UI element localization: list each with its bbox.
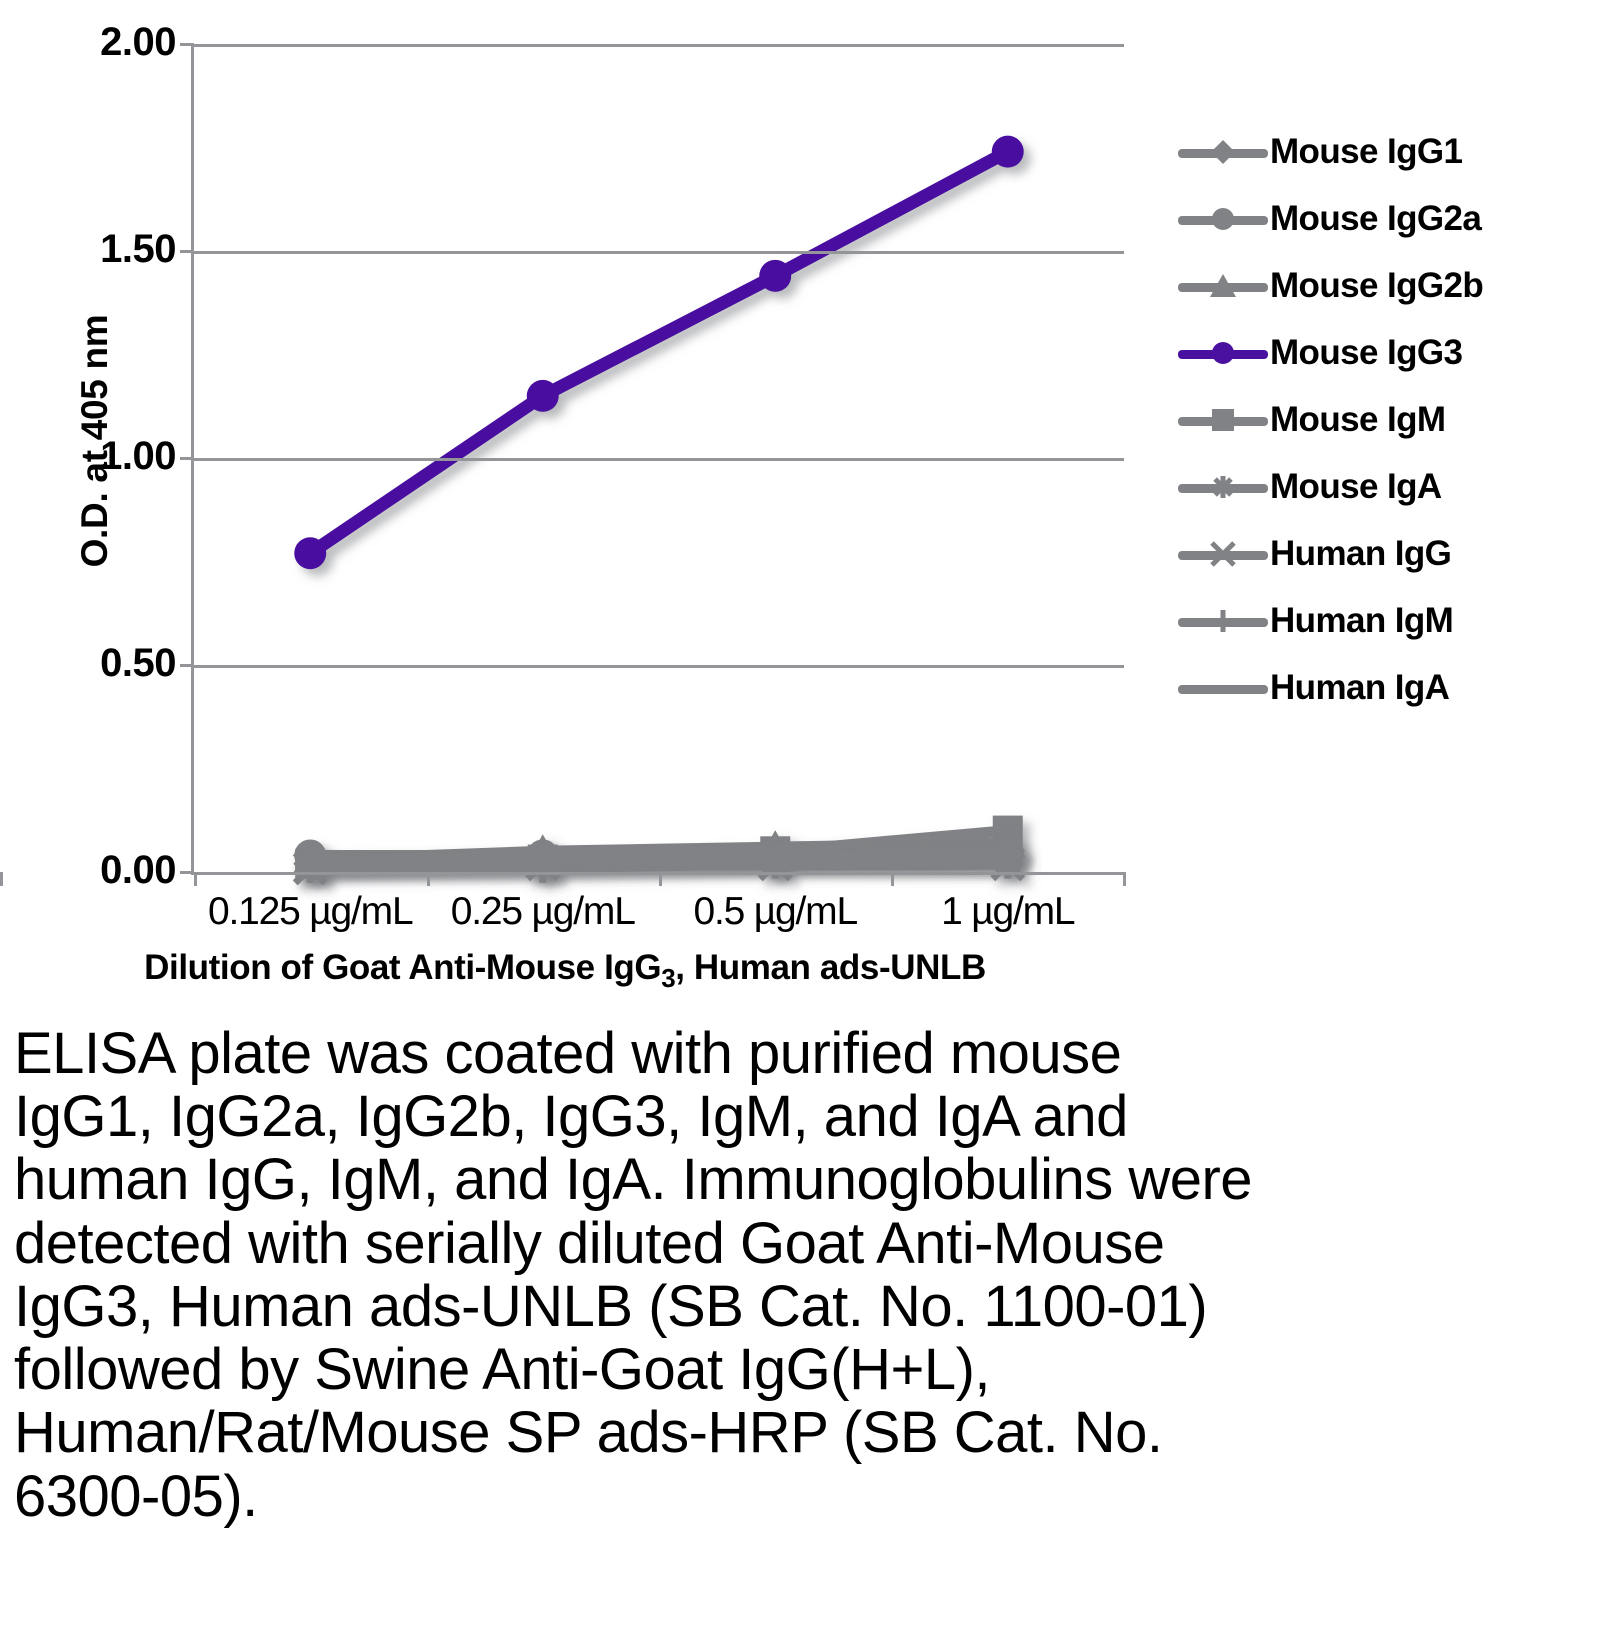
legend-item-mouse-igg3[interactable]: Mouse IgG3 — [1178, 319, 1618, 386]
legend-item-mouse-igm[interactable]: Mouse IgM — [1178, 386, 1618, 453]
x-axis-tick-labels: 0.125 µg/mL 0.25 µg/mL 0.5 µg/mL 1 µg/mL — [194, 890, 1124, 946]
legend-swatch-icon — [1178, 199, 1268, 239]
legend-swatch-icon — [1178, 601, 1268, 641]
y-axis-title-holder: O.D. at 405 nm — [55, 0, 115, 900]
legend-marker-circle-icon — [1201, 331, 1245, 375]
gridline-0.50 — [194, 665, 1124, 668]
legend-swatch-icon — [1178, 132, 1268, 172]
x-tickmark-1 — [427, 872, 430, 886]
x-tick-label-2: 0.5 µg/mL — [659, 890, 892, 946]
legend-item-human-igm[interactable]: Human IgM — [1178, 587, 1618, 654]
x-axis-title-pre: Dilution of Goat Anti-Mouse IgG — [144, 948, 661, 987]
legend-line-icon — [1178, 685, 1268, 694]
caption-line-7: 6300-05). — [14, 1465, 1614, 1528]
legend-marker-plus-icon — [1201, 599, 1245, 643]
y-axis-title: O.D. at 405 nm — [74, 161, 116, 721]
caption-line-1: IgG1, IgG2a, IgG2b, IgG3, IgM, and IgA a… — [14, 1085, 1614, 1148]
legend-item-mouse-igg2a[interactable]: Mouse IgG2a — [1178, 185, 1618, 252]
gridline-1.00 — [194, 458, 1124, 461]
figure-root: 2.00 1.50 1.00 0.50 0.00 O.D. at 405 nm — [0, 0, 1621, 1648]
x-tickmark-4 — [1123, 872, 1126, 886]
legend-marker-cross-icon — [1201, 532, 1245, 576]
x-tick-label-1: 0.25 µg/mL — [427, 890, 660, 946]
gridline-2.00 — [194, 44, 1124, 47]
legend-item-label: Human IgM — [1270, 601, 1453, 641]
x-tick-label-3: 1 µg/mL — [892, 890, 1125, 946]
legend-item-label: Human IgA — [1270, 668, 1449, 708]
legend-item-label: Mouse IgG3 — [1270, 333, 1462, 373]
chart-container: 2.00 1.50 1.00 0.50 0.00 O.D. at 405 nm — [0, 0, 1621, 1010]
caption-line-0: ELISA plate was coated with purified mou… — [14, 1022, 1614, 1085]
legend-item-mouse-igg2b[interactable]: Mouse IgG2b — [1178, 252, 1618, 319]
legend-marker-asterisk-icon — [1201, 465, 1245, 509]
figure-caption: ELISA plate was coated with purified mou… — [14, 1022, 1614, 1528]
legend-swatch-icon — [1178, 668, 1268, 708]
caption-line-5: followed by Swine Anti-Goat IgG(H+L), — [14, 1338, 1614, 1401]
legend-item-label: Mouse IgA — [1270, 467, 1442, 507]
legend-swatch-icon — [1178, 333, 1268, 373]
legend-marker-circle-icon — [1201, 197, 1245, 241]
chart-legend: Mouse IgG1Mouse IgG2aMouse IgG2bMouse Ig… — [1178, 118, 1618, 721]
legend-marker-square-icon — [1201, 398, 1245, 442]
legend-item-mouse-iga[interactable]: Mouse IgA — [1178, 453, 1618, 520]
legend-swatch-icon — [1178, 534, 1268, 574]
legend-item-mouse-igg1[interactable]: Mouse IgG1 — [1178, 118, 1618, 185]
legend-item-label: Mouse IgG2a — [1270, 199, 1481, 239]
legend-item-label: Human IgG — [1270, 534, 1451, 574]
caption-line-4: IgG3, Human ads-UNLB (SB Cat. No. 1100-0… — [14, 1275, 1614, 1338]
x-axis-title-post: , Human ads-UNLB — [675, 948, 986, 987]
legend-marker-triangle-icon — [1201, 264, 1245, 308]
x-tick-label-0: 0.125 µg/mL — [194, 890, 427, 946]
legend-item-human-igg[interactable]: Human IgG — [1178, 520, 1618, 587]
x-axis-title-subscript: 3 — [661, 963, 675, 993]
legend-marker-diamond-icon — [1201, 130, 1245, 174]
legend-item-label: Mouse IgM — [1270, 400, 1445, 440]
x-tickmark-0 — [194, 872, 197, 886]
legend-item-human-iga[interactable]: Human IgA — [1178, 654, 1618, 721]
series-mouse-igg3 — [294, 136, 1024, 570]
legend-item-label: Mouse IgG2b — [1270, 266, 1483, 306]
legend-swatch-icon — [1178, 266, 1268, 306]
x-tickmark-3 — [891, 872, 894, 886]
caption-line-3: detected with serially diluted Goat Anti… — [14, 1212, 1614, 1275]
caption-line-6: Human/Rat/Mouse SP ads-HRP (SB Cat. No. — [14, 1401, 1614, 1464]
caption-line-2: human IgG, IgM, and IgA. Immunoglobulins… — [14, 1148, 1614, 1211]
legend-swatch-icon — [1178, 467, 1268, 507]
plot-area — [194, 44, 1124, 872]
x-axis-title: Dilution of Goat Anti-Mouse IgG3, Human … — [0, 948, 1130, 994]
legend-item-label: Mouse IgG1 — [1270, 132, 1462, 172]
x-tickmark-2 — [659, 872, 662, 886]
gridline-1.50 — [194, 251, 1124, 254]
legend-swatch-icon — [1178, 400, 1268, 440]
